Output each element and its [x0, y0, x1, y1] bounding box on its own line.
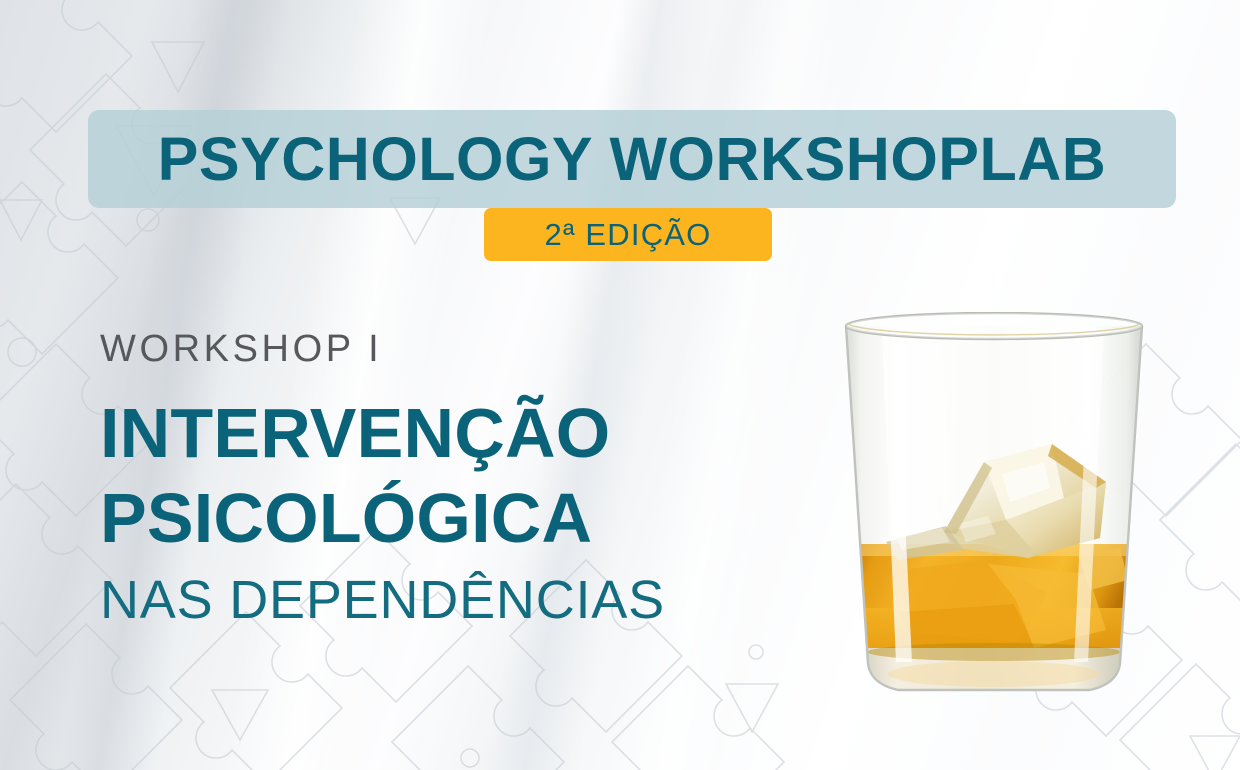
headline-line-1: INTERVENÇÃO	[100, 398, 830, 469]
edition-badge-label: 2ª EDIÇÃO	[545, 219, 712, 250]
title-bar: PSYCHOLOGY WORKSHOPLAB	[88, 110, 1176, 208]
subheadline: NAS DEPENDÊNCIAS	[100, 573, 830, 627]
headline-line-2: PSICOLÓGICA	[100, 483, 830, 554]
whisky-glass-image	[838, 312, 1150, 712]
workshop-number-label: WORKSHOP I	[100, 330, 830, 368]
event-title: PSYCHOLOGY WORKSHOPLAB	[158, 129, 1107, 190]
edition-badge: 2ª EDIÇÃO	[484, 208, 772, 261]
promotional-banner: PSYCHOLOGY WORKSHOPLAB 2ª EDIÇÃO WORKSHO…	[0, 0, 1240, 770]
copy-block: WORKSHOP I INTERVENÇÃO PSICOLÓGICA NAS D…	[100, 330, 830, 627]
